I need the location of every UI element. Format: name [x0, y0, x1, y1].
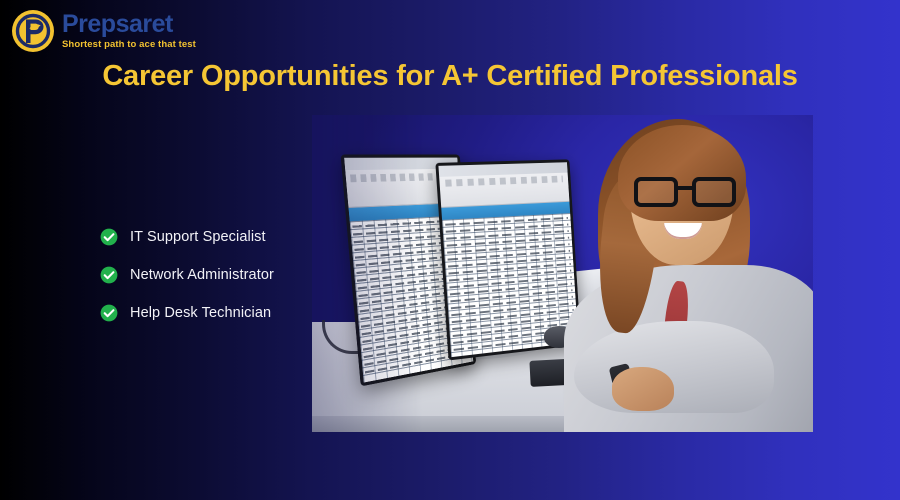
eyeglasses-icon: [634, 177, 736, 207]
list-item: IT Support Specialist: [100, 228, 274, 246]
lens-right: [692, 177, 736, 207]
hero-photo: [312, 115, 813, 432]
job-roles-list: IT Support Specialist Network Administra…: [100, 228, 274, 322]
lens-bridge: [678, 186, 692, 190]
list-item: Help Desk Technician: [100, 304, 274, 322]
brand-wordmark: Prepsaret Shortest path to ace that test: [62, 12, 196, 50]
spreadsheet-ribbon: [438, 162, 569, 208]
list-item-label: IT Support Specialist: [130, 229, 266, 245]
brand-name: Prepsaret: [62, 12, 196, 37]
person-hand: [612, 367, 674, 411]
page-title: Career Opportunities for A+ Certified Pr…: [0, 60, 900, 93]
list-item: Network Administrator: [100, 266, 274, 284]
green-check-circle-icon: [100, 304, 118, 322]
brand-tagline: Shortest path to ace that test: [62, 40, 196, 50]
list-item-label: Help Desk Technician: [130, 305, 271, 321]
list-item-label: Network Administrator: [130, 267, 274, 283]
lens-left: [634, 177, 678, 207]
green-check-circle-icon: [100, 228, 118, 246]
promo-banner: Prepsaret Shortest path to ace that test…: [0, 0, 900, 500]
brand-logo[interactable]: Prepsaret Shortest path to ace that test: [10, 8, 196, 54]
green-check-circle-icon: [100, 266, 118, 284]
prepsaret-p-badge-icon: [10, 8, 56, 54]
